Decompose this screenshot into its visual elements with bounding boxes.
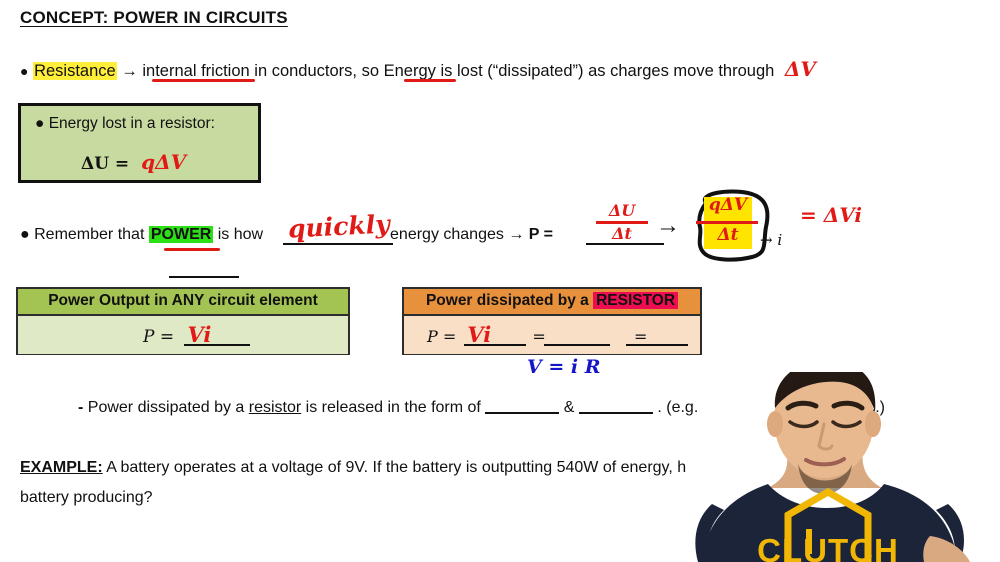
circled-denominator: Δt bbox=[692, 225, 764, 245]
blank-form-1 bbox=[485, 396, 559, 414]
equation-lhs: P = bbox=[427, 327, 456, 346]
equation-lhs: P = bbox=[143, 327, 174, 347]
concept-line-1: ● Resistance → internal friction in cond… bbox=[20, 57, 816, 81]
page-title: CONCEPT: POWER IN CIRCUITS bbox=[20, 8, 288, 28]
slide-canvas: CONCEPT: POWER IN CIRCUITS ● Resistance … bbox=[0, 0, 1000, 562]
fraction-delta-u-over-delta-t: ΔU Δt bbox=[596, 202, 648, 243]
answer-rule bbox=[184, 344, 250, 346]
power-output-body: P = Vi bbox=[18, 316, 348, 354]
energy-lost-text: Energy lost in a resistor: bbox=[49, 115, 215, 132]
quickly-rule bbox=[283, 243, 393, 245]
blank-form-2 bbox=[579, 396, 653, 414]
fraction-rule bbox=[586, 243, 664, 245]
example-line-2: battery producing? bbox=[20, 489, 153, 507]
sub-line-before: Power dissipated by a bbox=[88, 399, 245, 416]
power-dissipated-body: P = Vi = = bbox=[404, 316, 700, 354]
bullet-icon: ● bbox=[20, 226, 30, 243]
example-line-1: EXAMPLE: A battery operates at a voltage… bbox=[20, 459, 686, 477]
ampersand-glyph: & bbox=[564, 399, 575, 416]
equation-lhs: ΔU = bbox=[81, 154, 129, 174]
circled-fraction-bar bbox=[696, 221, 758, 224]
phrase-internal-friction: internal friction bbox=[142, 62, 249, 80]
svg-text:CLUTCH: CLUTCH bbox=[757, 532, 899, 562]
fraction-numerator: ΔU bbox=[596, 202, 648, 220]
power-dissipated-header-prefix: Power dissipated by a bbox=[426, 292, 589, 309]
word-resistor: resistor bbox=[249, 399, 301, 416]
power-dissipated-equation: P = Vi = = bbox=[427, 322, 647, 347]
example-label: EXAMPLE: bbox=[20, 459, 103, 476]
power-line-prefix: Remember that bbox=[34, 226, 144, 243]
power-line-mid: is how bbox=[218, 226, 263, 243]
example-text-1: A battery operates at a voltage of 9V. I… bbox=[106, 459, 686, 476]
power-output-header: Power Output in ANY circuit element bbox=[18, 289, 348, 316]
dash-glyph: - bbox=[78, 399, 83, 416]
circled-fraction: qΔV Δt bbox=[692, 193, 764, 255]
word-energy: Energy bbox=[384, 62, 436, 80]
highlight-resistance: Resistance bbox=[33, 62, 117, 80]
red-underline-power bbox=[164, 248, 220, 251]
red-underline-energy bbox=[404, 79, 456, 82]
presenter-figure-icon: CLUTCH bbox=[672, 372, 1000, 562]
power-line-suffix: energy changes bbox=[390, 226, 504, 243]
energy-lost-equation: ΔU = qΔV bbox=[81, 150, 186, 174]
step-arrow-glyph: → bbox=[656, 212, 680, 240]
bullet-icon: ● bbox=[35, 115, 44, 132]
red-underline-internal-friction bbox=[152, 79, 255, 82]
p-equals-label: P = bbox=[529, 226, 553, 243]
handwritten-delta-v: ΔV bbox=[785, 57, 816, 81]
blank-rule-1 bbox=[544, 344, 610, 346]
blank-rule-2 bbox=[626, 344, 688, 346]
arrow-glyph: → bbox=[508, 226, 524, 243]
answer-rule bbox=[169, 276, 239, 278]
presenter-video-overlay: CLUTCH bbox=[672, 372, 1000, 562]
answer-rule-1 bbox=[464, 344, 526, 346]
energy-lost-label: ● Energy lost in a resistor: bbox=[35, 115, 215, 133]
highlight-resistor: RESISTOR bbox=[593, 292, 678, 309]
power-output-box: Power Output in ANY circuit element P = … bbox=[16, 287, 350, 355]
to-current-annotation: → i bbox=[760, 231, 782, 249]
circled-numerator: qΔV bbox=[692, 195, 764, 215]
power-dissipated-box: Power dissipated by a RESISTOR P = Vi = … bbox=[402, 287, 702, 355]
energy-lost-box: ● Energy lost in a resistor: ΔU = qΔV bbox=[18, 103, 261, 183]
result-delta-v-i: = ΔVi bbox=[800, 203, 862, 227]
fraction-denominator: Δt bbox=[596, 225, 648, 243]
line1-mid-text: in conductors, so bbox=[254, 62, 379, 80]
line1-tail-text: is lost (“dissipated”) as charges move t… bbox=[440, 62, 774, 80]
sub-line-mid: is released in the form of bbox=[306, 399, 481, 416]
power-line: ● Remember that POWER is how energy chan… bbox=[20, 226, 553, 244]
handwritten-q-delta-v: qΔV bbox=[141, 150, 186, 174]
power-dissipated-header: Power dissipated by a RESISTOR bbox=[404, 289, 700, 316]
handwritten-quickly: quickly bbox=[287, 209, 390, 243]
handwritten-v-equals-ir: V = i R bbox=[527, 356, 601, 378]
arrow-glyph: → bbox=[121, 62, 138, 80]
highlight-power: POWER bbox=[149, 226, 213, 243]
bullet-icon: ● bbox=[20, 63, 28, 79]
